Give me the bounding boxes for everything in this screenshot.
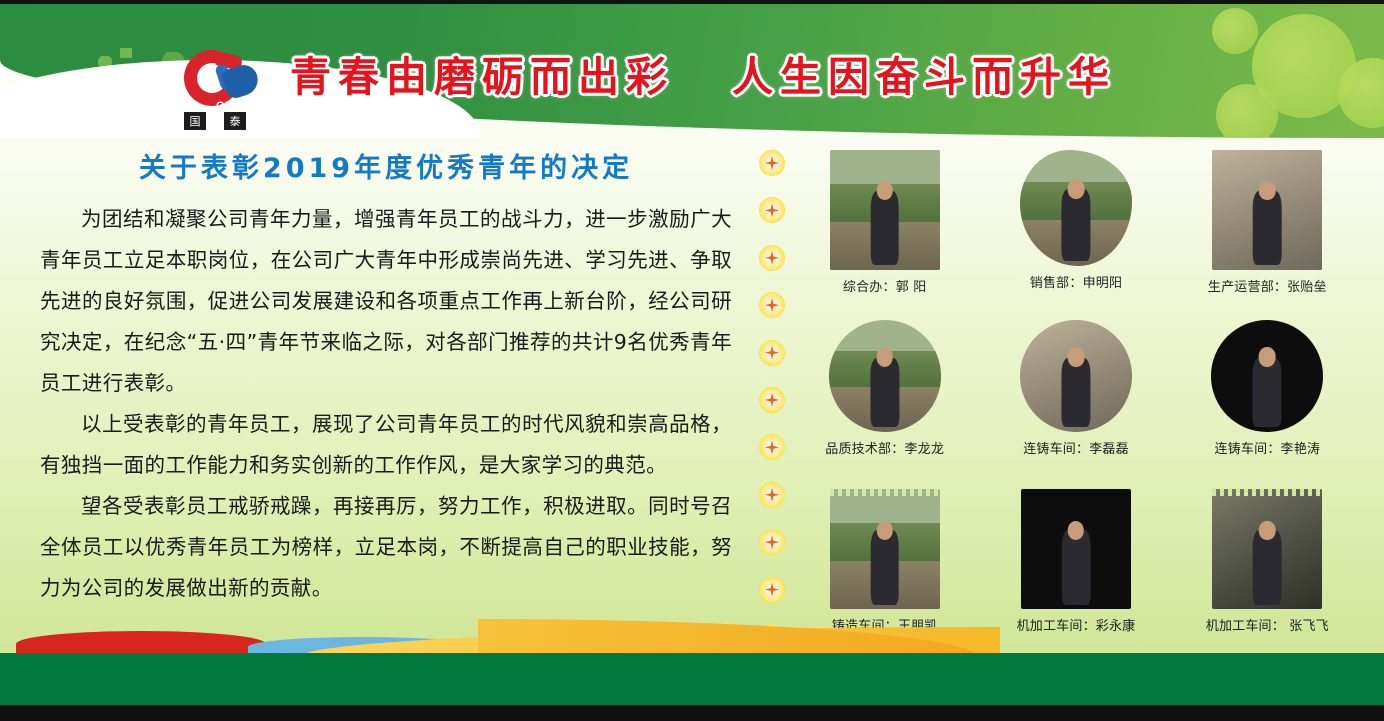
divider-dot-icon <box>759 577 785 603</box>
honoree-cell: 销售部：申明阳 <box>987 150 1164 316</box>
honoree-cell: 连铸车间：李艳涛 <box>1179 320 1356 486</box>
honoree-photo <box>1212 489 1322 609</box>
divider-dot-icon <box>759 387 785 413</box>
person-silhouette <box>1061 189 1090 261</box>
divider-dot-icon <box>759 245 785 271</box>
honoree-caption: 销售部：申明阳 <box>1030 272 1122 291</box>
dotted-divider <box>752 150 792 650</box>
butterfly-icon-4 <box>120 48 132 58</box>
honoree-photo <box>1211 320 1323 432</box>
banner-slogan-left: 青春由磨砺而出彩 <box>290 57 674 98</box>
person-head <box>1068 179 1085 198</box>
company-logo: GUOTAI 国 泰 <box>178 48 278 132</box>
divider-dot-icon <box>759 482 785 508</box>
person-head <box>876 181 893 200</box>
honoree-cell: 综合办：郭 阳 <box>796 150 973 316</box>
poster-header: GUOTAI 国 泰 青春由磨砺而出彩 人生因奋斗而升华 <box>0 0 1384 138</box>
logo-char-box-2: 泰 <box>224 112 246 130</box>
divider-dot-icon <box>759 434 785 460</box>
document-paragraph-1: 为团结和凝聚公司青年力量，增强青年员工的战斗力，进一步激励广大青年员工立足本职岗… <box>36 199 736 404</box>
honoree-photo <box>1020 320 1132 432</box>
logo-char-box-1: 国 <box>184 112 206 130</box>
person-silhouette <box>870 191 899 265</box>
person-head <box>1259 181 1276 200</box>
divider-dot-icon <box>759 292 785 318</box>
honoree-caption: 连铸车间：李磊磊 <box>1023 438 1129 457</box>
person-head <box>1259 347 1276 366</box>
honoree-photo <box>829 320 941 432</box>
bottom-border-line <box>0 705 1384 721</box>
honoree-cell: 品质技术部：李龙龙 <box>796 320 973 486</box>
honoree-caption: 生产运营部：张贻垒 <box>1208 276 1327 295</box>
honoree-photo <box>830 150 940 270</box>
person-head <box>1259 521 1276 540</box>
honoree-photo <box>1020 150 1132 266</box>
banner-slogan-right: 人生因奋斗而升华 <box>732 57 1116 98</box>
honoree-photo-grid: 综合办：郭 阳销售部：申明阳生产运营部：张贻垒品质技术部：李龙龙连铸车间：李磊磊… <box>796 150 1356 655</box>
person-silhouette <box>1253 530 1282 604</box>
banner-slogan-group: 青春由磨砺而出彩 人生因奋斗而升华 <box>290 46 1290 108</box>
honoree-cell: 连铸车间：李磊磊 <box>987 320 1164 486</box>
person-silhouette <box>1253 191 1282 265</box>
divider-dot-icon <box>759 340 785 366</box>
person-head <box>876 347 893 366</box>
document-paragraph-3: 望各受表彰员工戒骄戒躁，再接再厉，努力工作，积极进取。同时号召全体员工以优秀青年… <box>36 486 736 609</box>
honor-board-poster: GUOTAI 国 泰 青春由磨砺而出彩 人生因奋斗而升华 关于表彰2019年度优… <box>0 0 1384 721</box>
top-border-line <box>0 0 1384 4</box>
person-silhouette <box>1061 358 1090 427</box>
honoree-caption: 综合办：郭 阳 <box>843 276 927 295</box>
document-title: 关于表彰2019年度优秀青年的决定 <box>36 146 736 185</box>
divider-dot-icon <box>759 150 785 176</box>
person-head <box>876 521 893 540</box>
person-silhouette <box>1253 358 1282 427</box>
footer-green-band <box>0 653 1384 705</box>
person-silhouette <box>870 530 899 604</box>
honoree-photo <box>1021 489 1131 609</box>
honoree-caption: 连铸车间：李艳涛 <box>1215 438 1321 457</box>
honoree-caption: 品质技术部：李龙龙 <box>825 438 944 457</box>
person-head <box>1068 347 1085 366</box>
person-silhouette <box>870 358 899 427</box>
divider-dot-icon <box>759 197 785 223</box>
divider-dot-icon <box>759 529 785 555</box>
document-paragraph-2: 以上受表彰的青年员工，展现了公司青年员工的时代风貌和崇高品格，有独挡一面的工作能… <box>36 404 736 486</box>
honoree-photo <box>1212 150 1322 270</box>
person-silhouette <box>1062 530 1091 604</box>
person-head <box>1068 521 1085 540</box>
logo-wordmark: GUOTAI <box>216 100 262 112</box>
honoree-photo <box>830 489 940 609</box>
footer-decoration <box>0 629 1384 721</box>
honoree-cell: 生产运营部：张贻垒 <box>1179 150 1356 316</box>
decision-document: 关于表彰2019年度优秀青年的决定 为团结和凝聚公司青年力量，增强青年员工的战斗… <box>36 146 736 646</box>
